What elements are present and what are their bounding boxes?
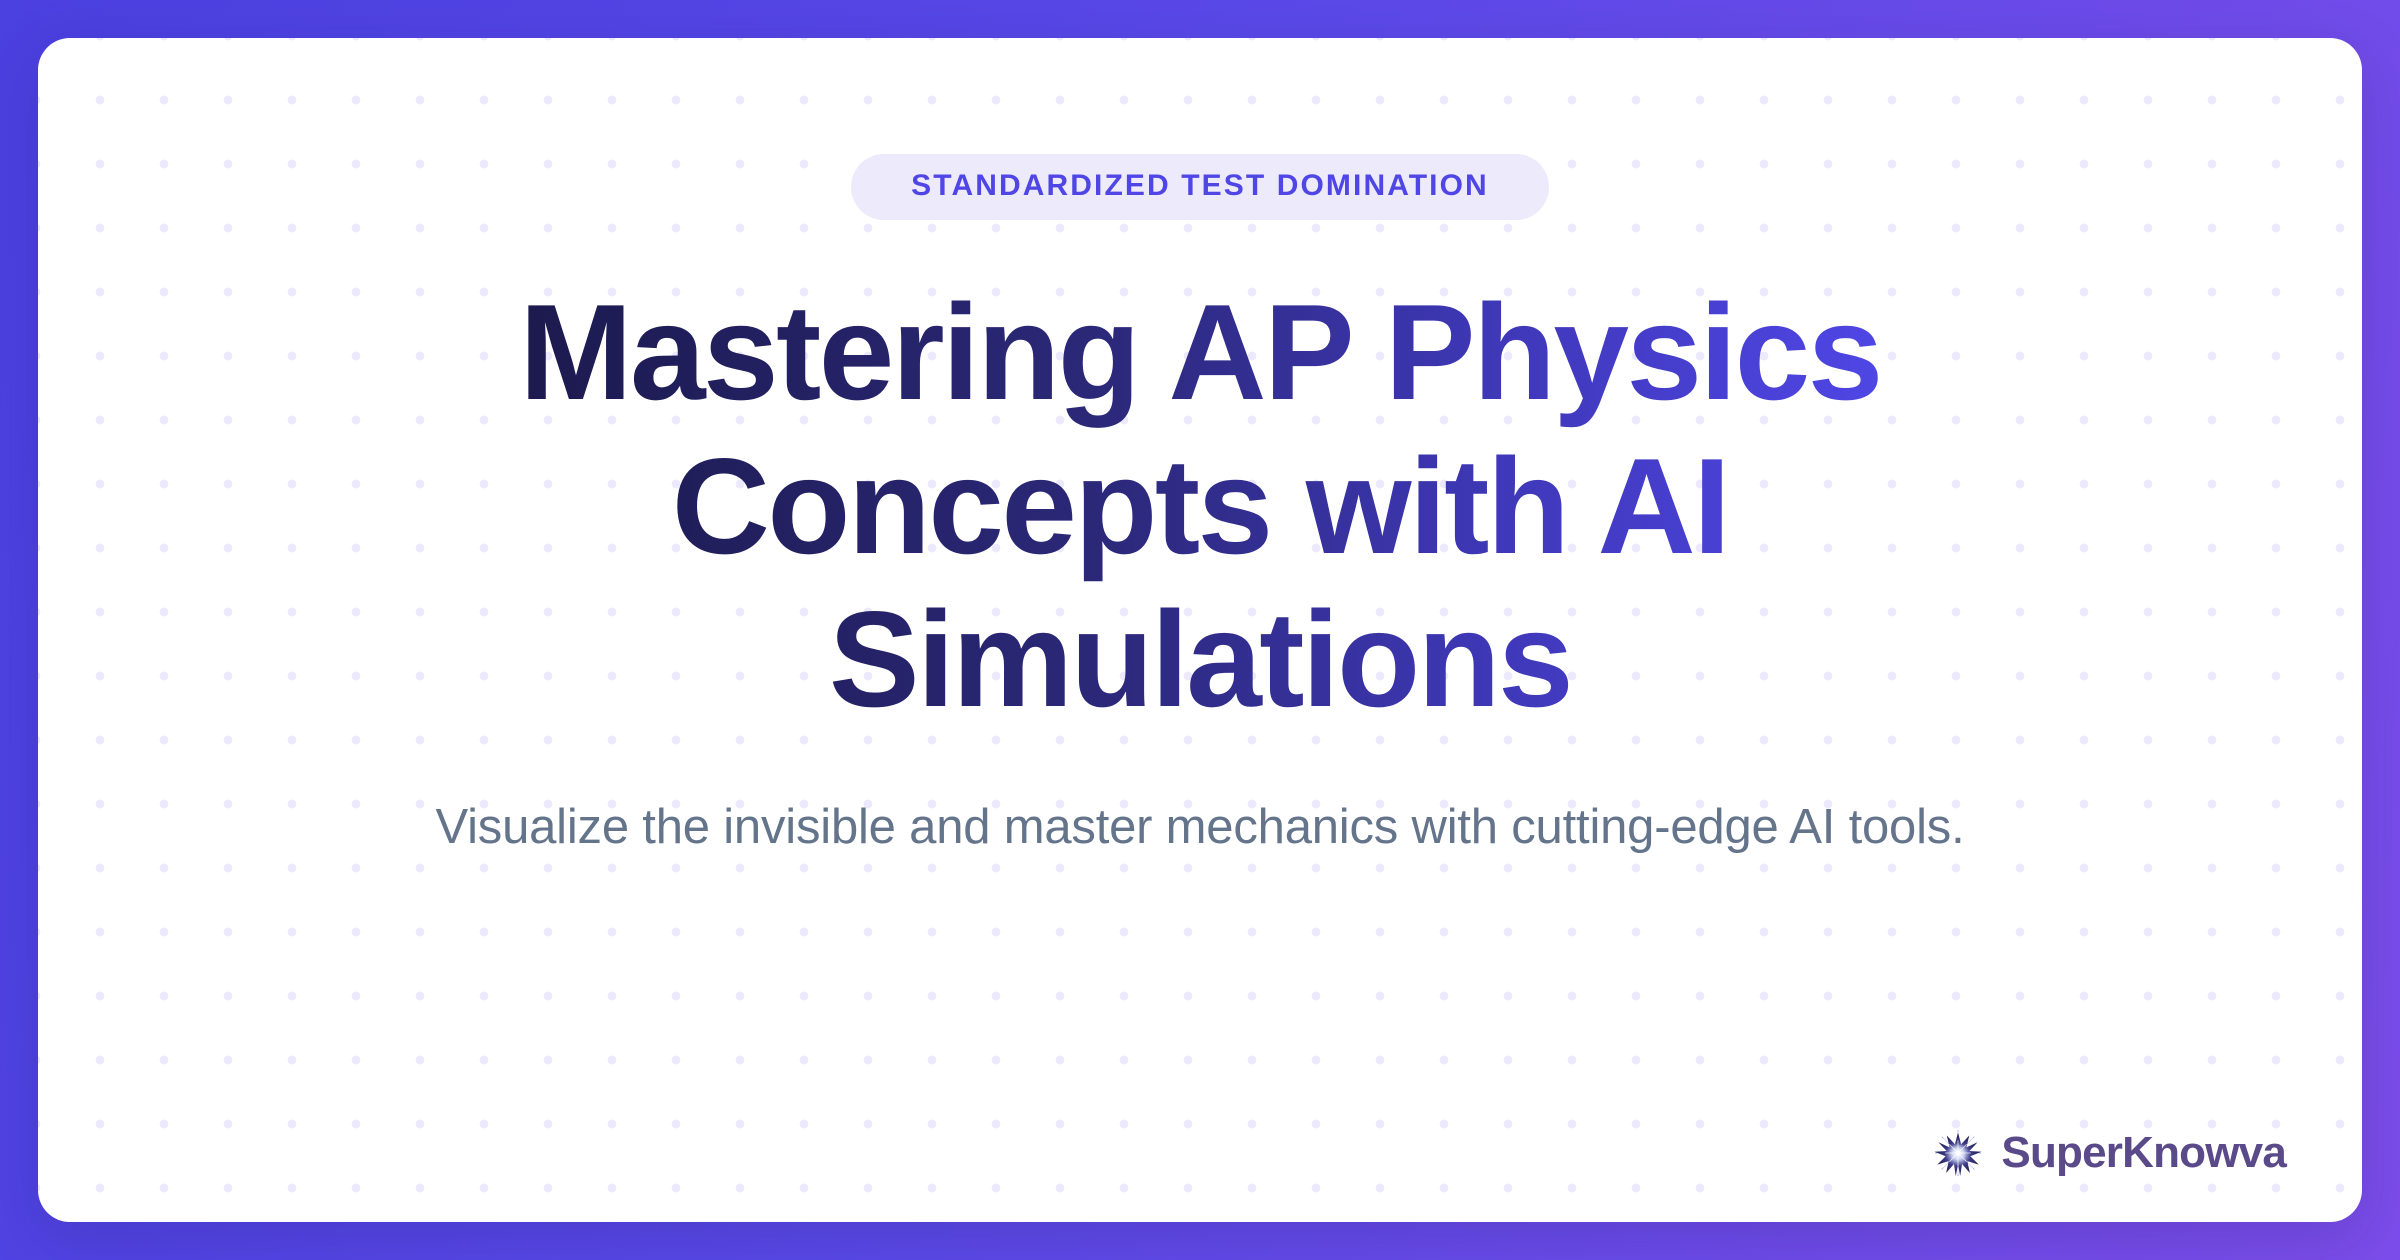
eyebrow-badge: STANDARDIZED TEST DOMINATION — [851, 154, 1549, 220]
headline-line-1: Mastering AP Physics — [519, 276, 1880, 430]
headline-line-3: Simulations — [519, 583, 1880, 737]
starburst-icon — [1933, 1128, 1983, 1178]
slide-card: STANDARDIZED TEST DOMINATION Mastering A… — [38, 38, 2362, 1222]
headline-line-2: Concepts with AI — [519, 430, 1880, 584]
slide-content: STANDARDIZED TEST DOMINATION Mastering A… — [38, 154, 2362, 863]
eyebrow-label: STANDARDIZED TEST DOMINATION — [911, 171, 1489, 201]
slide-subtitle: Visualize the invisible and master mecha… — [435, 793, 1964, 863]
brand-logo: SuperKnowva — [1933, 1128, 2286, 1178]
page-title: Mastering AP Physics Concepts with AI Si… — [519, 276, 1880, 737]
brand-name: SuperKnowva — [2001, 1131, 2286, 1175]
